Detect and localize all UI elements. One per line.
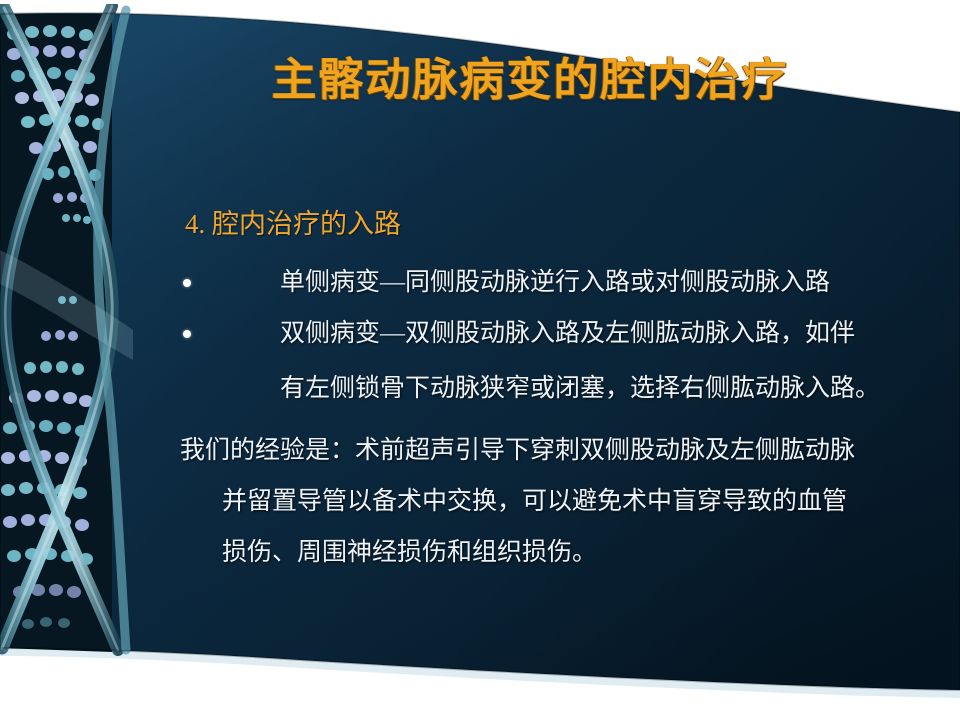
paragraph-line: 损伤、周围神经损伤和组织损伤。 [180,536,950,569]
paragraph-line: 我们的经验是：术前超声引导下穿刺双侧股动脉及左侧肱动脉 [180,434,950,467]
experience-paragraph: 我们的经验是：术前超声引导下穿刺双侧股动脉及左侧肱动脉 并留置导管以备术中交换，… [180,434,950,587]
bullet-list: 单侧病变—同侧股动脉逆行入路或对侧股动脉入路 双侧病变—双侧股动脉入路及左侧肱动… [180,266,940,423]
list-item-text-continued: 有左侧锁骨下动脉狭窄或闭塞，选择右侧肱动脉入路。 [180,372,940,405]
list-item-text: 双侧病变—双侧股动脉入路及左侧肱动脉入路，如伴 [180,317,940,350]
section-subheading: 4. 腔内治疗的入路 [185,207,401,241]
page-title: 主髂动脉病变的腔内治疗 [130,52,930,108]
bullet-dot-icon [183,330,191,338]
list-item-text: 单侧病变—同侧股动脉逆行入路或对侧股动脉入路 [180,266,940,299]
list-item: 双侧病变—双侧股动脉入路及左侧肱动脉入路，如伴 有左侧锁骨下动脉狭窄或闭塞，选择… [180,317,940,405]
slide-content: 主髂动脉病变的腔内治疗 4. 腔内治疗的入路 单侧病变—同侧股动脉逆行入路或对侧… [0,0,960,720]
list-item: 单侧病变—同侧股动脉逆行入路或对侧股动脉入路 [180,266,940,299]
bullet-dot-icon [183,279,191,287]
paragraph-line: 并留置导管以备术中交换，可以避免术中盲穿导致的血管 [180,485,950,518]
slide-canvas: 主髂动脉病变的腔内治疗 4. 腔内治疗的入路 单侧病变—同侧股动脉逆行入路或对侧… [0,0,960,720]
